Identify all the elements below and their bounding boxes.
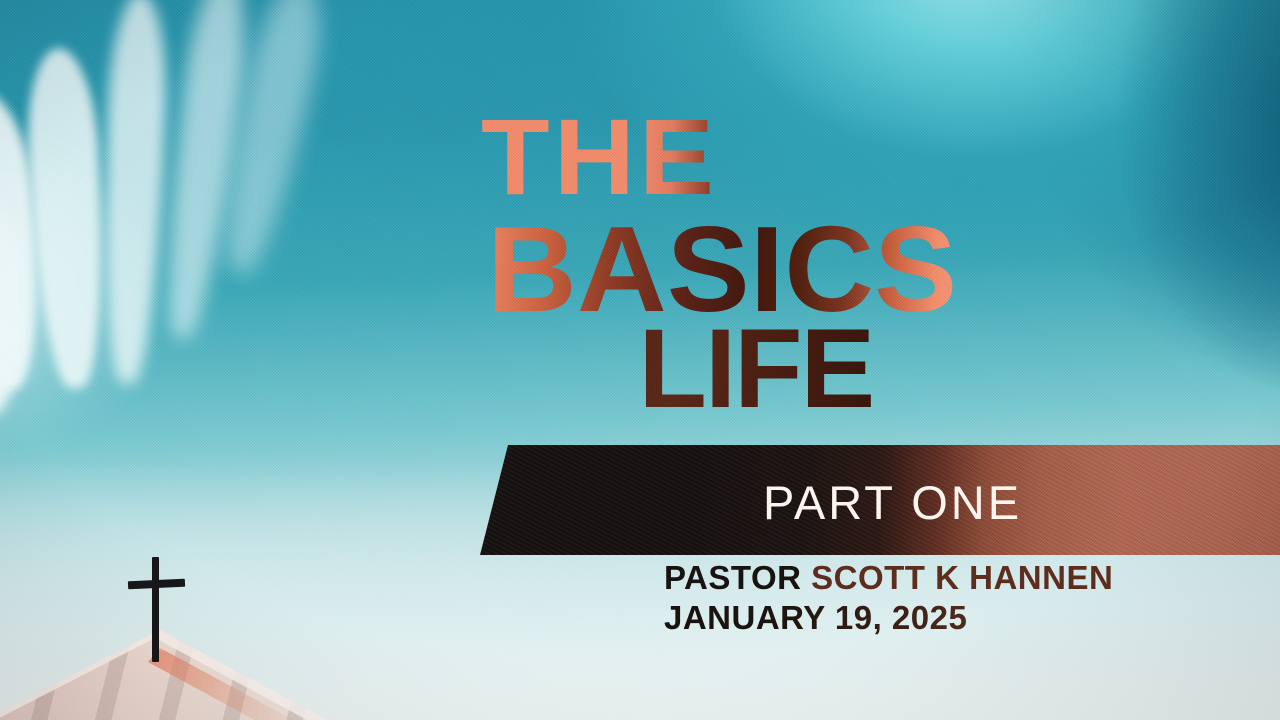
speaker-name: SCOTT K HANNEN [811, 559, 1113, 596]
title-word-life: LIFE [639, 322, 874, 416]
title-word-of: OF [485, 322, 583, 416]
sermon-date: JANUARY 19, 2025 [664, 598, 1113, 638]
sermon-title-slide: PART ONE THE BASICS OF LIFE PASTOR SCOTT… [0, 0, 1280, 720]
credits-block: PASTOR SCOTT K HANNEN JANUARY 19, 2025 [664, 558, 1113, 639]
title-line-the: THE [481, 112, 718, 203]
speaker-prefix: PASTOR [664, 559, 811, 596]
title-line-of-life: OF LIFE [485, 322, 873, 416]
speaker-line: PASTOR SCOTT K HANNEN [664, 558, 1113, 598]
